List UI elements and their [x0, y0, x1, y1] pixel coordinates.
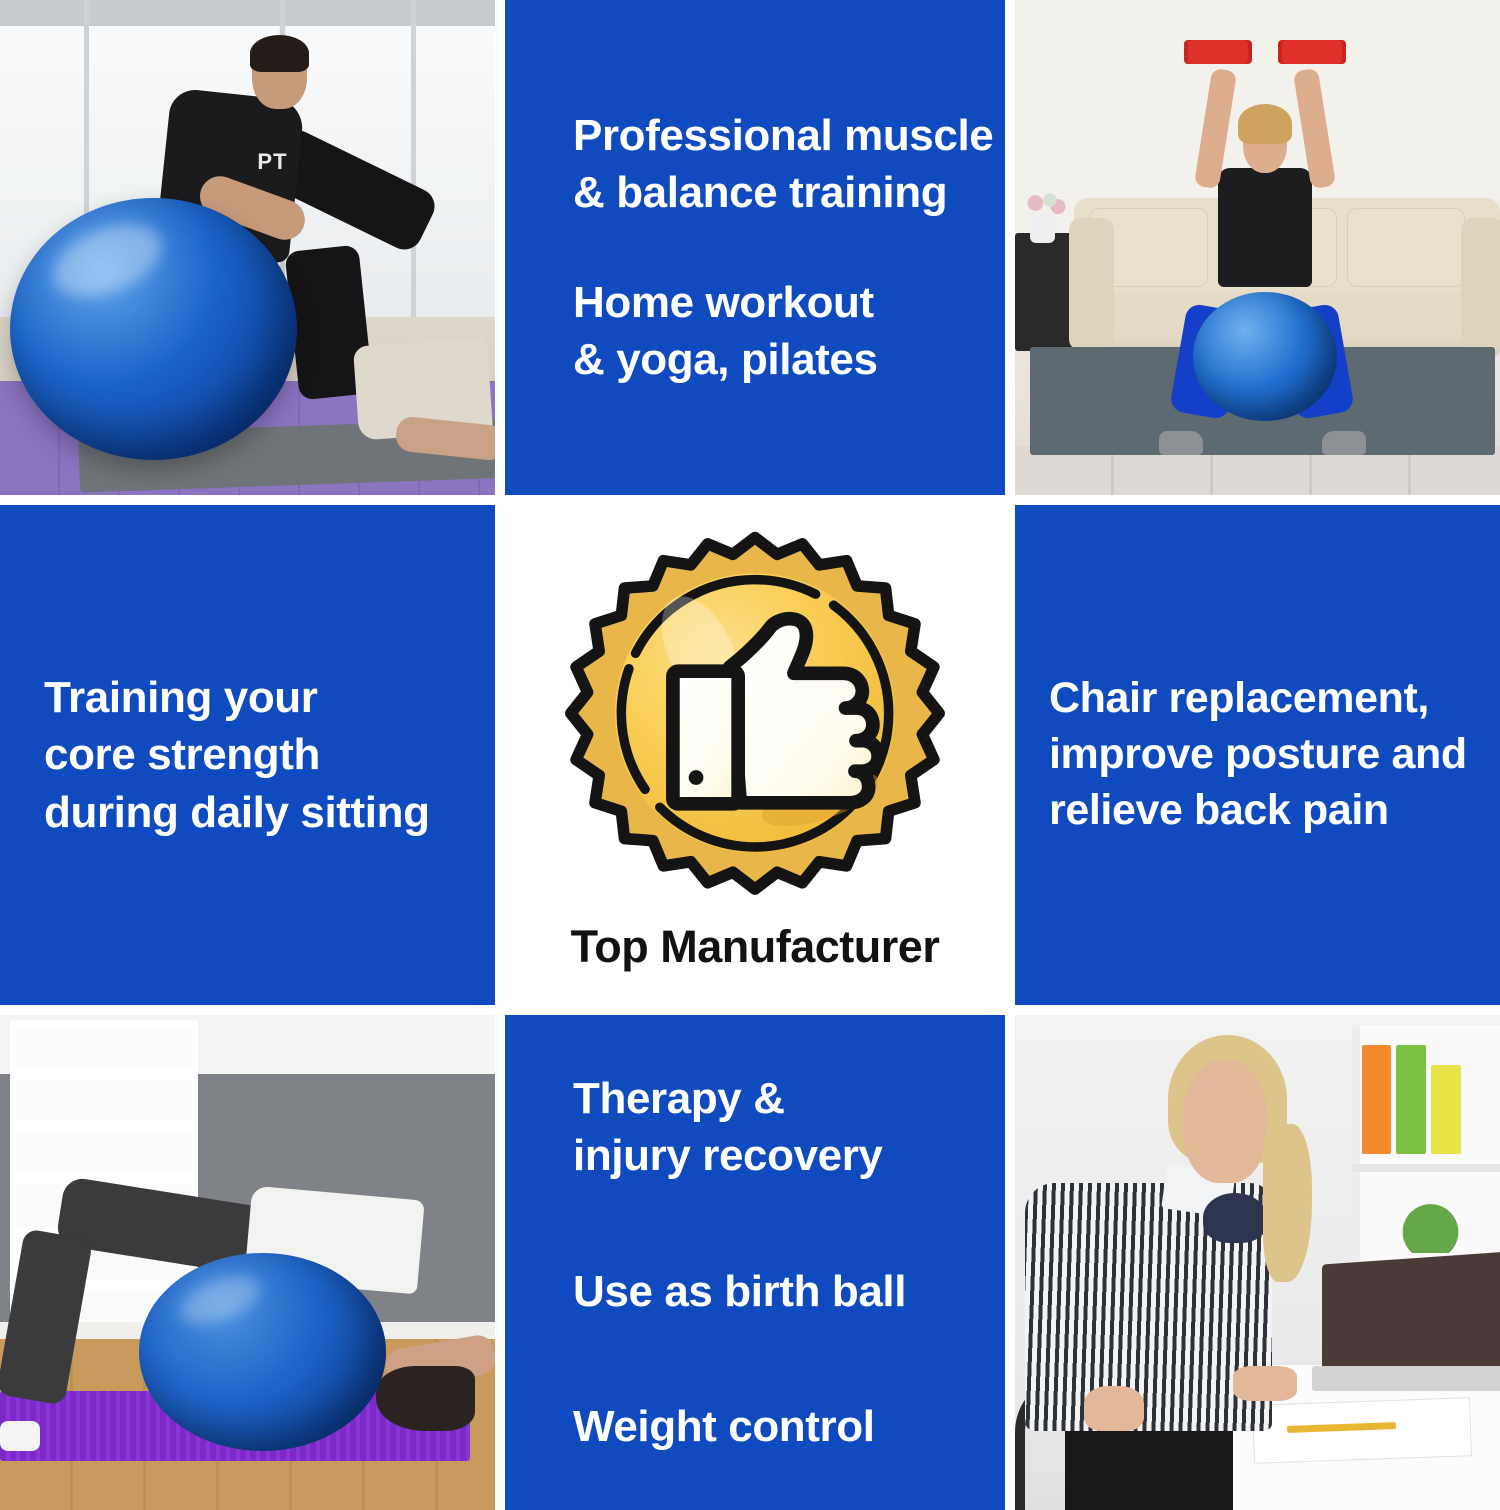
panel-line: & balance training	[573, 164, 971, 221]
photo-cell-bridge	[0, 1015, 495, 1510]
panel-line: core strength	[44, 726, 461, 783]
bridge-photo	[0, 1015, 495, 1510]
badge-label: Top Manufacturer	[571, 921, 940, 973]
dumbbell-photo	[1015, 0, 1500, 495]
panel-line: Chair replacement,	[1049, 671, 1476, 727]
panel-line: during daily sitting	[44, 784, 461, 841]
panel-line: improve posture and	[1049, 727, 1476, 783]
dumbbell-right-icon	[1282, 40, 1341, 65]
panel-line: relieve back pain	[1049, 783, 1476, 839]
photo-cell-dumbbells	[1015, 0, 1500, 495]
seal-badge-graphic	[540, 527, 970, 927]
text-panel-top-middle: Professional muscle & balance training H…	[505, 0, 1005, 495]
pt-shirt-text: PT	[257, 149, 287, 175]
panel-line: Home workout	[573, 274, 971, 331]
trainer-photo: PT	[0, 0, 495, 495]
panel-line: Weight control	[573, 1398, 971, 1455]
panel-line: injury recovery	[573, 1127, 971, 1184]
photo-cell-trainer: PT	[0, 0, 495, 495]
text-panel-left-middle: Training your core strength during daily…	[0, 505, 495, 1005]
panel-line: Training your	[44, 669, 461, 726]
panel-line: Use as birth ball	[573, 1263, 971, 1320]
backpain-photo	[1015, 1015, 1500, 1510]
feature-grid: PT Professional muscle & balance trainin…	[0, 0, 1500, 1500]
text-panel-bottom-middle: Therapy & injury recovery Use as birth b…	[505, 1015, 1005, 1510]
top-manufacturer-badge: Top Manufacturer	[505, 505, 1005, 1005]
photo-cell-backpain	[1015, 1015, 1500, 1510]
dumbbell-left-icon	[1188, 40, 1247, 65]
text-panel-right-middle: Chair replacement, improve posture and r…	[1015, 505, 1500, 1005]
panel-line: & yoga, pilates	[573, 331, 971, 388]
panel-line: Therapy &	[573, 1070, 971, 1127]
panel-line: Professional muscle	[573, 107, 971, 164]
